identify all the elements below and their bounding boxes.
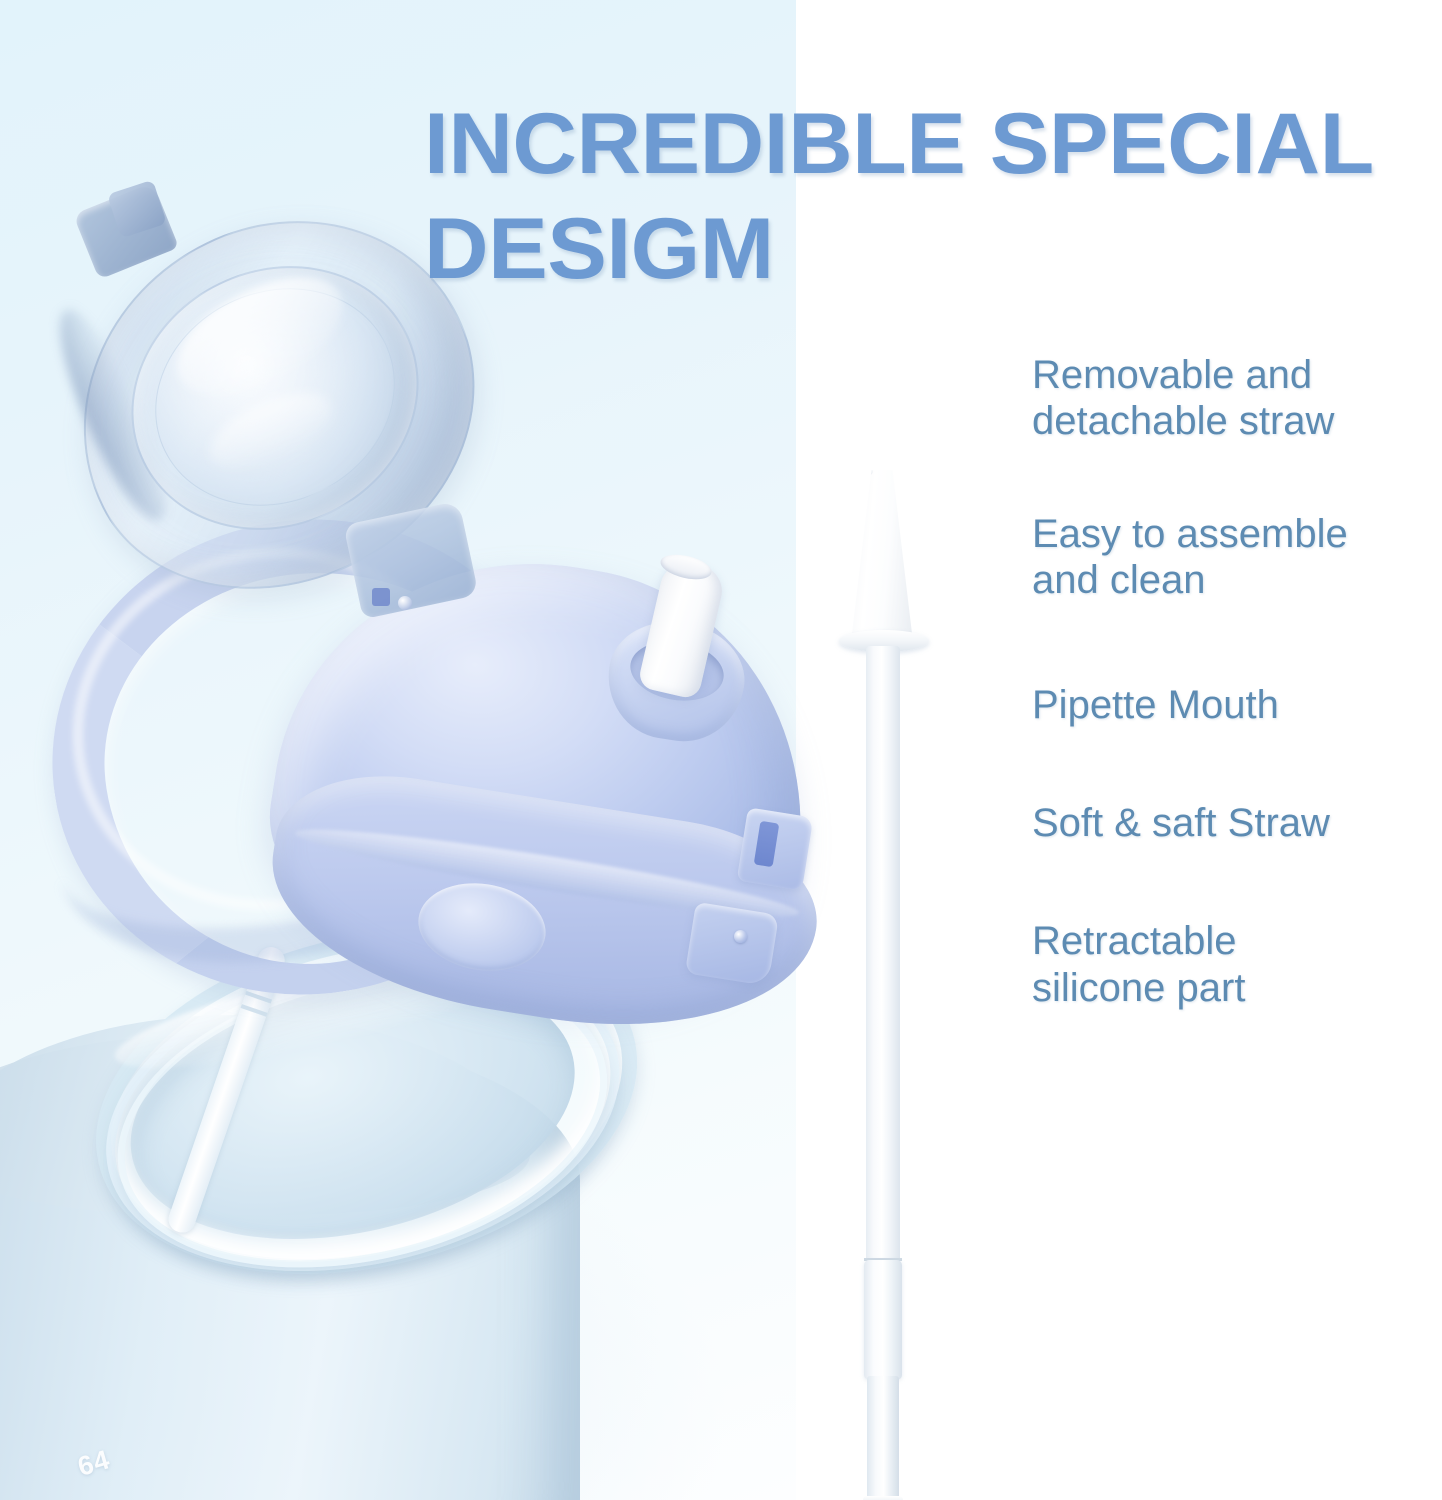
feature-item-soft-straw: Soft & saft Straw bbox=[1032, 800, 1442, 846]
feature-label-line-1: Retractable bbox=[1032, 919, 1237, 963]
page-title-line-1: INCREDIBLE SPECIAL bbox=[424, 92, 1442, 197]
straw-lower-segment bbox=[867, 1376, 899, 1500]
feature-item-removable-straw: Removable and detachable straw bbox=[1032, 352, 1442, 445]
straw-pipette-tip-opening bbox=[851, 466, 873, 477]
lid-hinge-pin bbox=[398, 596, 412, 610]
cap-latch-secondary bbox=[685, 902, 779, 986]
feature-item-retractable-silicone: Retractable silicone part bbox=[1032, 918, 1442, 1011]
feature-list: Removable and detachable straw Easy to a… bbox=[1032, 352, 1442, 1071]
infographic-canvas: 64 bbox=[0, 0, 1442, 1500]
feature-label-line-1: Soft & saft Straw bbox=[1032, 801, 1330, 845]
feature-item-easy-assemble: Easy to assemble and clean bbox=[1032, 511, 1442, 604]
feature-label-line-2: and clean bbox=[1032, 557, 1442, 603]
straw-ridge bbox=[863, 1496, 903, 1500]
straw-band bbox=[241, 1004, 268, 1017]
cap-screw-pin bbox=[734, 930, 747, 943]
feature-label-line-2: detachable straw bbox=[1032, 398, 1442, 444]
feature-item-pipette-mouth: Pipette Mouth bbox=[1032, 682, 1442, 728]
feature-label-line-1: Pipette Mouth bbox=[1032, 683, 1279, 727]
straw-pipette-mouthpiece bbox=[851, 470, 913, 642]
straw-shaft bbox=[866, 646, 900, 1266]
detachable-straw bbox=[865, 470, 901, 1480]
page-title: INCREDIBLE SPECIAL DESIGM bbox=[424, 92, 1442, 302]
feature-label-line-2: silicone part bbox=[1032, 965, 1442, 1011]
feature-label-line-1: Easy to assemble bbox=[1032, 512, 1348, 556]
lid-hinge-accent bbox=[372, 588, 390, 606]
feature-label-line-1: Removable and bbox=[1032, 353, 1312, 397]
straw-mid-segment bbox=[864, 1260, 902, 1380]
straw-band bbox=[245, 991, 272, 1004]
page-title-line-2: DESIGM bbox=[424, 197, 1442, 302]
